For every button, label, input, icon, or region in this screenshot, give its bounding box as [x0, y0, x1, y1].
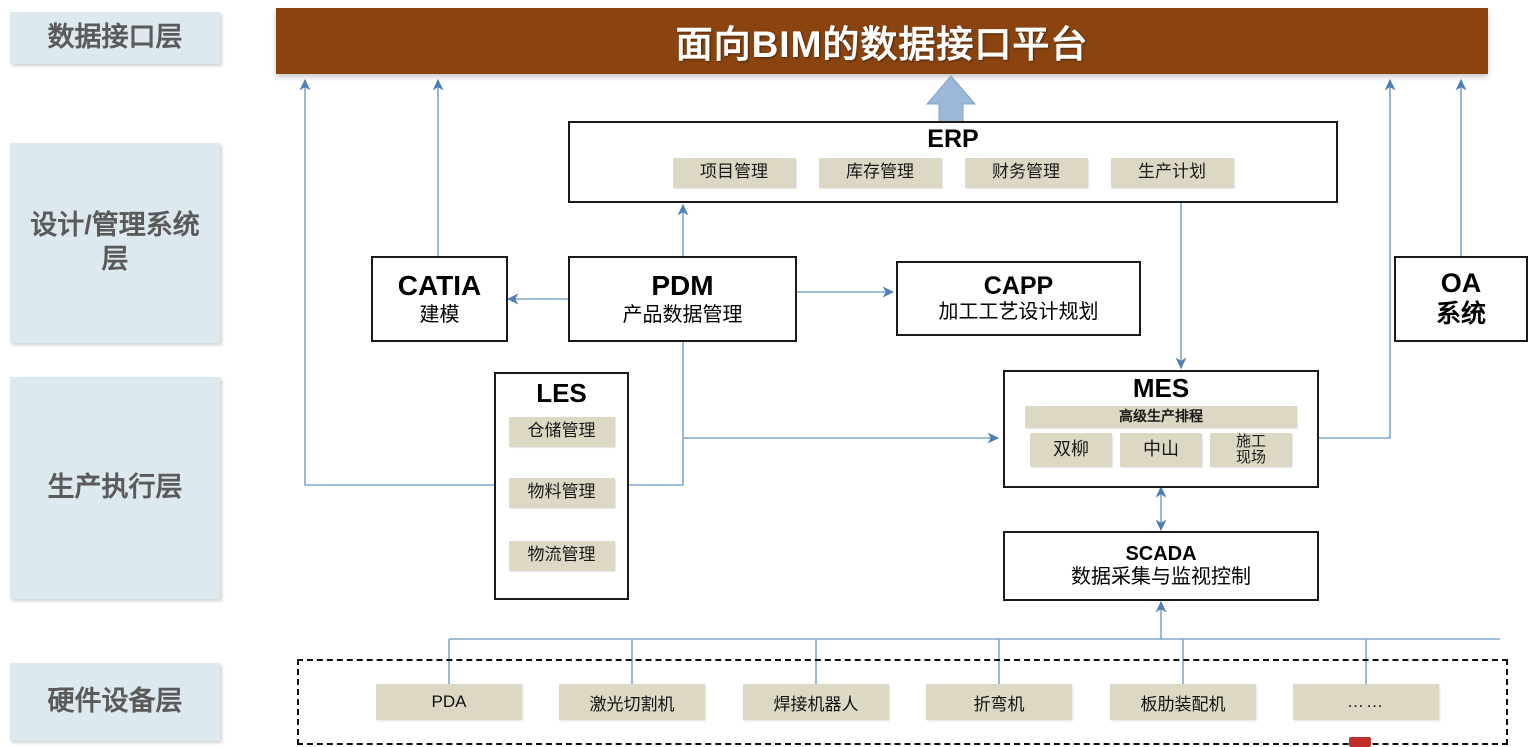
hardware-device-label: ……	[1347, 692, 1385, 712]
hardware-device-chip[interactable]: 折弯机	[926, 684, 1072, 720]
hardware-device-chip[interactable]: 焊接机器人	[743, 684, 889, 720]
system-title-scada: SCADA	[1125, 543, 1196, 565]
platform-banner-title: 面向BIM的数据接口平台	[676, 14, 1089, 68]
system-box-capp[interactable]: CAPP 加工工艺设计规划	[896, 261, 1141, 336]
layer-label-text: 硬件设备层	[48, 685, 183, 719]
mes-site-label: 中山	[1143, 440, 1179, 460]
les-module-label: 物流管理	[528, 546, 596, 565]
erp-module-chip[interactable]: 库存管理	[819, 158, 942, 188]
system-title-pdm: PDM	[651, 271, 713, 302]
mes-site-chip[interactable]: 施工现场	[1210, 433, 1292, 467]
hardware-device-label: 焊接机器人	[774, 690, 859, 715]
layer-label-text: 生产执行层	[48, 471, 183, 505]
layer-label-production-execution: 生产执行层	[10, 377, 220, 599]
system-box-scada[interactable]: SCADA 数据采集与监视控制	[1003, 531, 1319, 601]
system-box-les[interactable]: LES 仓储管理 物料管理 物流管理	[494, 372, 629, 600]
platform-banner: 面向BIM的数据接口平台	[276, 8, 1488, 74]
mes-site-label: 施工现场	[1230, 434, 1272, 466]
system-subtitle-catia: 建模	[420, 304, 460, 327]
system-title-les: LES	[536, 379, 587, 408]
mes-scheduling-label: 高级生产排程	[1119, 409, 1203, 424]
erp-module-label: 财务管理	[992, 163, 1060, 182]
red-marker	[1349, 737, 1371, 747]
hardware-device-chip[interactable]: 激光切割机	[559, 684, 705, 720]
system-box-erp[interactable]: ERP 项目管理 库存管理 财务管理 生产计划	[568, 121, 1338, 203]
system-title-oa: OA	[1441, 269, 1482, 299]
erp-module-label: 库存管理	[846, 163, 914, 182]
layer-label-text: 设计/管理系统层	[20, 209, 210, 277]
mes-scheduling-chip[interactable]: 高级生产排程	[1025, 406, 1297, 428]
system-subtitle-pdm: 产品数据管理	[623, 304, 743, 327]
hardware-device-chip[interactable]: ……	[1293, 684, 1439, 720]
layer-label-text: 数据接口层	[48, 21, 183, 55]
les-module-chip[interactable]: 物流管理	[509, 541, 615, 571]
erp-module-label: 生产计划	[1138, 163, 1206, 182]
les-module-label: 物料管理	[528, 483, 596, 502]
hardware-device-label: 激光切割机	[590, 690, 675, 715]
hardware-device-label: 折弯机	[974, 690, 1025, 715]
hardware-device-chip[interactable]: PDA	[376, 684, 522, 720]
erp-module-label: 项目管理	[700, 163, 768, 182]
layer-label-hardware-device: 硬件设备层	[10, 663, 220, 741]
system-subtitle-oa: 系统	[1436, 300, 1486, 329]
les-module-chip[interactable]: 物料管理	[509, 478, 615, 508]
diagram-canvas: 数据接口层 设计/管理系统层 生产执行层 硬件设备层 面向BIM的数据接口平台	[0, 0, 1534, 747]
system-box-pdm[interactable]: PDM 产品数据管理	[568, 256, 797, 342]
hardware-device-label: PDA	[432, 692, 467, 712]
mes-site-label: 双柳	[1053, 440, 1089, 460]
erp-module-chip[interactable]: 财务管理	[965, 158, 1088, 188]
system-title-mes: MES	[1133, 374, 1189, 403]
system-title-erp: ERP	[927, 126, 978, 154]
hardware-device-chip[interactable]: 板肋装配机	[1110, 684, 1256, 720]
layer-label-data-interface: 数据接口层	[10, 12, 220, 64]
les-module-label: 仓储管理	[528, 422, 596, 441]
hardware-device-label: 板肋装配机	[1141, 690, 1226, 715]
les-module-chip[interactable]: 仓储管理	[509, 417, 615, 447]
system-title-capp: CAPP	[984, 273, 1053, 301]
mes-site-chip[interactable]: 双柳	[1030, 433, 1112, 467]
system-subtitle-capp: 加工工艺设计规划	[939, 301, 1099, 324]
system-title-catia: CATIA	[398, 271, 481, 302]
layer-label-design-management: 设计/管理系统层	[10, 143, 220, 343]
mes-site-chip[interactable]: 中山	[1120, 433, 1202, 467]
system-subtitle-scada: 数据采集与监视控制	[1071, 566, 1251, 589]
erp-module-chip[interactable]: 项目管理	[673, 158, 796, 188]
system-box-mes[interactable]: MES 高级生产排程 双柳 中山 施工现场	[1003, 370, 1319, 488]
system-box-oa[interactable]: OA 系统	[1394, 256, 1528, 342]
erp-module-chip[interactable]: 生产计划	[1111, 158, 1234, 188]
system-box-catia[interactable]: CATIA 建模	[371, 256, 508, 342]
